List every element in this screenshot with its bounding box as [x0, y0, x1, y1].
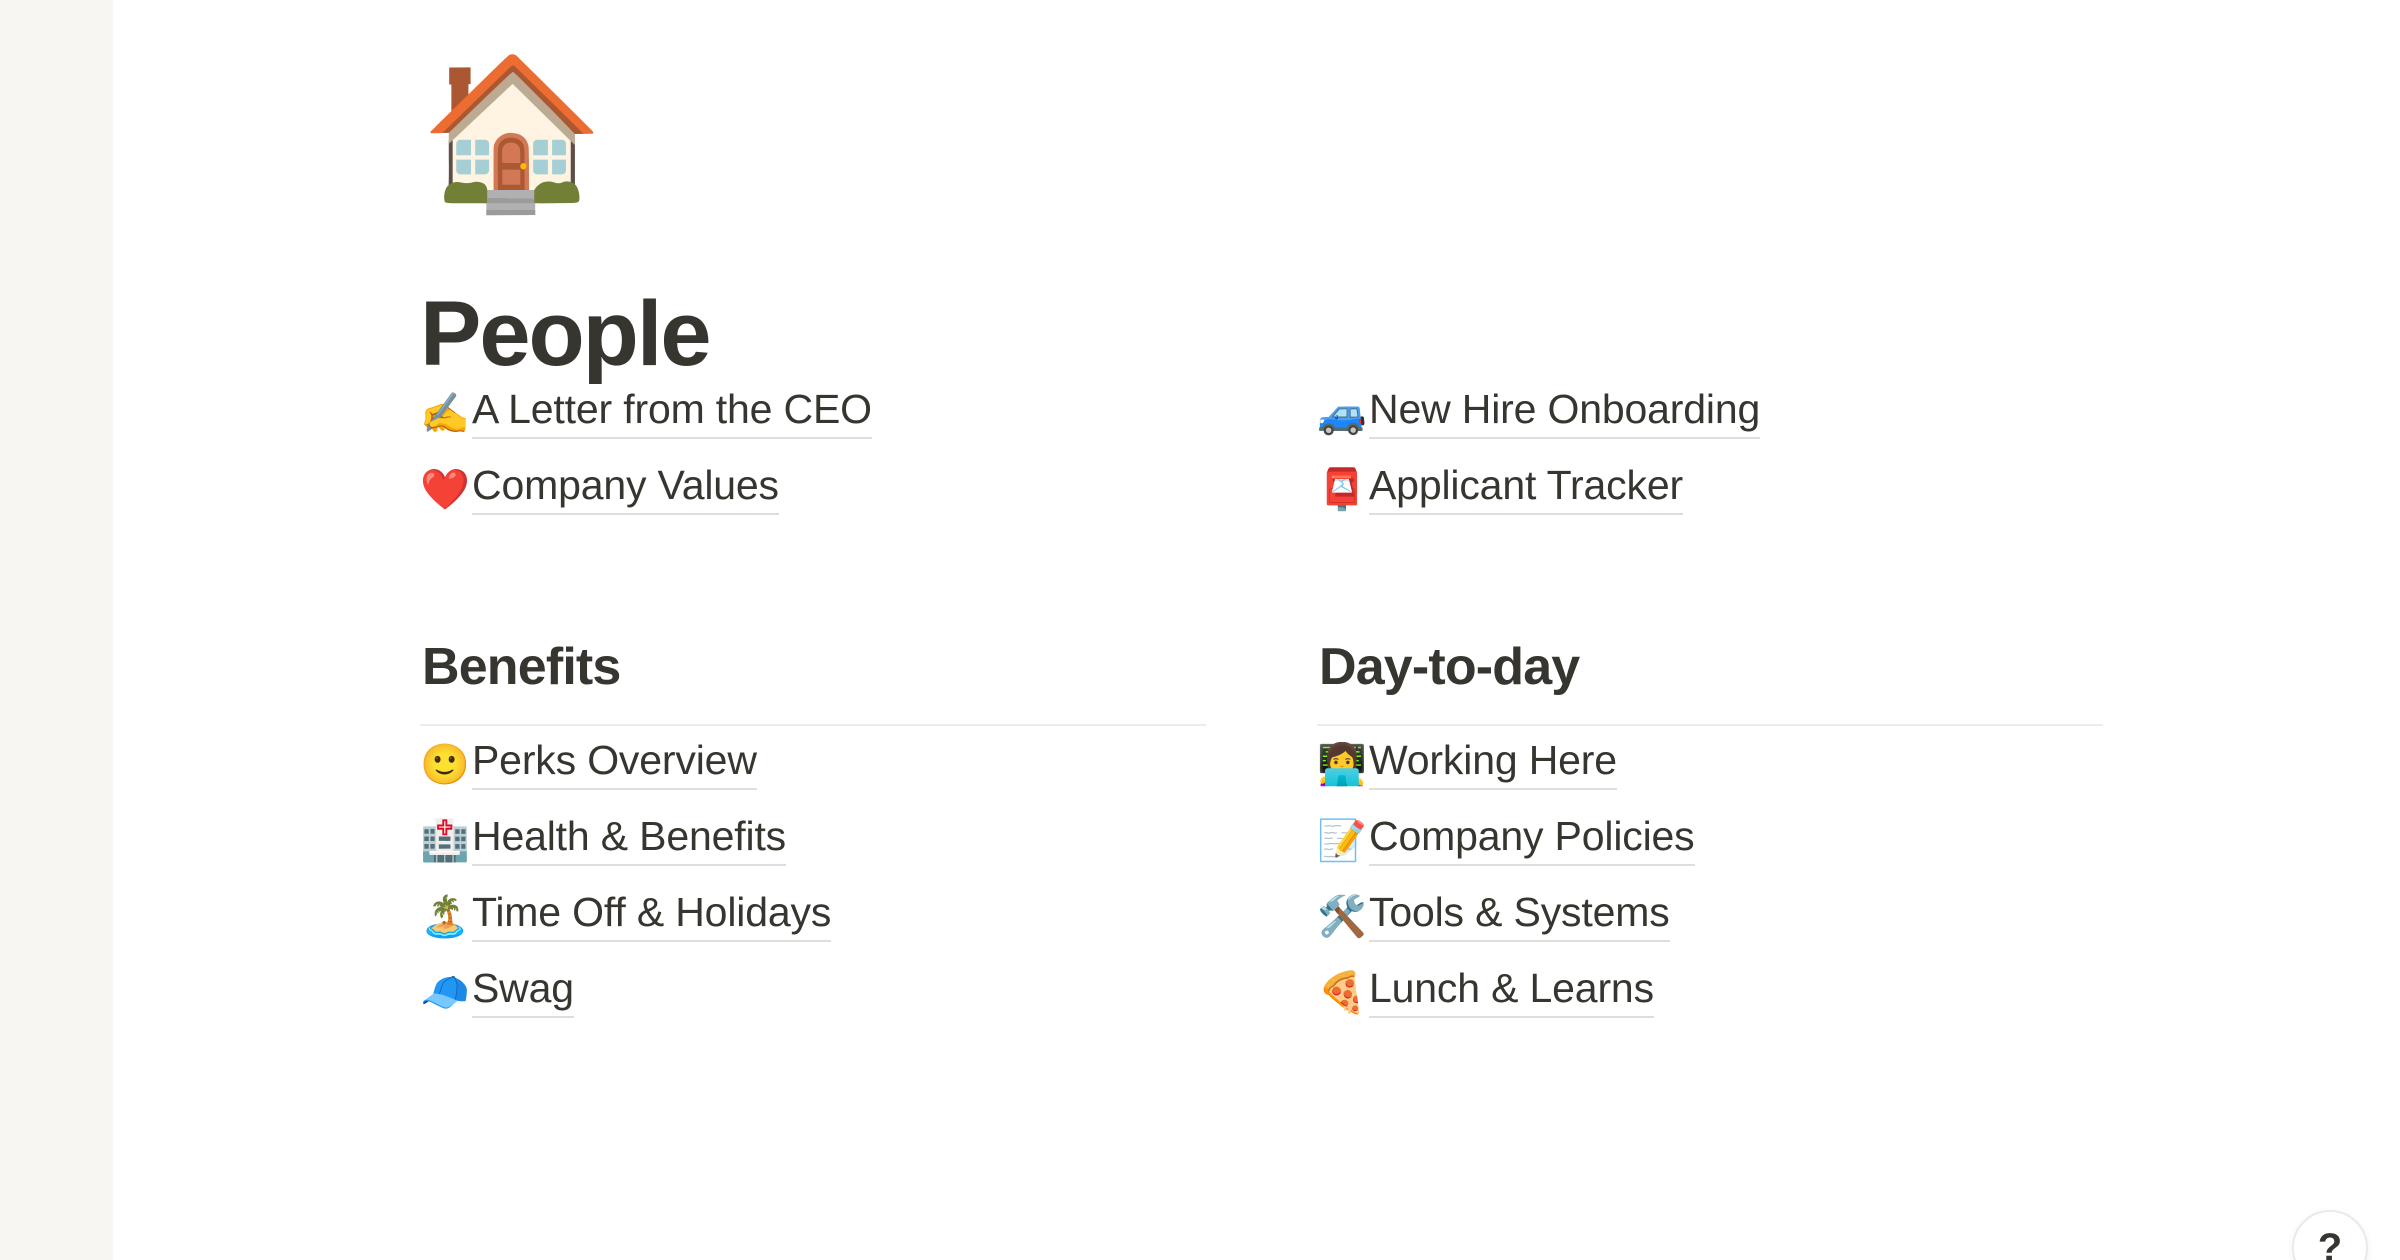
link-label[interactable]: Company Values — [472, 465, 779, 515]
top-links-list-left: ✍️ A Letter from the CEO ❤️ Company Valu… — [420, 389, 1206, 541]
link-row-company-values[interactable]: ❤️ Company Values — [420, 465, 1206, 541]
memo-emoji: 📝 — [1317, 821, 1369, 861]
link-label[interactable]: Health & Benefits — [472, 816, 786, 866]
section-divider — [420, 724, 1206, 726]
link-row-new-hire-onboarding[interactable]: 🚙 New Hire Onboarding — [1317, 389, 2103, 465]
section-heading-benefits[interactable]: Benefits — [420, 639, 1206, 696]
sidebar-rail[interactable] — [0, 0, 113, 1260]
section-benefits: Benefits 🙂 Perks Overview 🏥 Health & Ben… — [420, 639, 1206, 1044]
postbox-emoji: 📮 — [1317, 470, 1369, 510]
page-inner: 🏠 People ✍️ A Letter from the CEO ❤️ Com… — [113, 58, 2400, 1044]
page-title[interactable]: People — [420, 286, 2210, 383]
link-row-lunch-and-learns[interactable]: 🍕 Lunch & Learns — [1317, 968, 2103, 1044]
woman-technologist-emoji: 👩‍💻 — [1317, 745, 1369, 785]
section-day-to-day: Day-to-day 👩‍💻 Working Here 📝 Company Po… — [1317, 639, 2103, 1044]
section-divider — [1317, 724, 2103, 726]
link-row-tools-and-systems[interactable]: 🛠️ Tools & Systems — [1317, 892, 2103, 968]
top-links-columns: ✍️ A Letter from the CEO ❤️ Company Valu… — [420, 389, 2210, 541]
link-label[interactable]: Tools & Systems — [1369, 892, 1670, 942]
app-root: 🏠 People ✍️ A Letter from the CEO ❤️ Com… — [0, 0, 2400, 1260]
pizza-emoji: 🍕 — [1317, 973, 1369, 1013]
section-links-day-to-day: 👩‍💻 Working Here 📝 Company Policies 🛠️ T… — [1317, 740, 2103, 1044]
desert-island-emoji: 🏝️ — [420, 897, 472, 937]
link-label[interactable]: Lunch & Learns — [1369, 968, 1654, 1018]
link-row-working-here[interactable]: 👩‍💻 Working Here — [1317, 740, 2103, 816]
red-heart-emoji: ❤️ — [420, 470, 472, 510]
page-content-area: 🏠 People ✍️ A Letter from the CEO ❤️ Com… — [113, 0, 2400, 1260]
slightly-smiling-face-emoji: 🙂 — [420, 745, 472, 785]
writing-hand-emoji: ✍️ — [420, 394, 472, 434]
link-label[interactable]: Perks Overview — [472, 740, 757, 790]
link-label[interactable]: Applicant Tracker — [1369, 465, 1683, 515]
hammer-and-wrench-emoji: 🛠️ — [1317, 897, 1369, 937]
hospital-emoji: 🏥 — [420, 821, 472, 861]
link-label[interactable]: New Hire Onboarding — [1369, 389, 1760, 439]
link-label[interactable]: Working Here — [1369, 740, 1617, 790]
link-row-applicant-tracker[interactable]: 📮 Applicant Tracker — [1317, 465, 2103, 541]
help-button[interactable]: ? — [2292, 1210, 2368, 1260]
recreational-vehicle-emoji: 🚙 — [1317, 394, 1369, 434]
top-links-column-right: 🚙 New Hire Onboarding 📮 Applicant Tracke… — [1317, 389, 2103, 541]
link-row-swag[interactable]: 🧢 Swag — [420, 968, 1206, 1044]
link-label[interactable]: Company Policies — [1369, 816, 1695, 866]
link-row-perks-overview[interactable]: 🙂 Perks Overview — [420, 740, 1206, 816]
page-icon[interactable]: 🏠 — [420, 58, 610, 268]
link-row-health-and-benefits[interactable]: 🏥 Health & Benefits — [420, 816, 1206, 892]
section-heading-day-to-day[interactable]: Day-to-day — [1317, 639, 2103, 696]
top-links-column-left: ✍️ A Letter from the CEO ❤️ Company Valu… — [420, 389, 1206, 541]
section-columns: Benefits 🙂 Perks Overview 🏥 Health & Ben… — [420, 585, 2210, 1044]
billed-cap-emoji: 🧢 — [420, 973, 472, 1013]
link-row-company-policies[interactable]: 📝 Company Policies — [1317, 816, 2103, 892]
link-row-a-letter-from-the-ceo[interactable]: ✍️ A Letter from the CEO — [420, 389, 1206, 465]
link-row-time-off-and-holidays[interactable]: 🏝️ Time Off & Holidays — [420, 892, 1206, 968]
link-label[interactable]: A Letter from the CEO — [472, 389, 872, 439]
link-label[interactable]: Swag — [472, 968, 574, 1018]
top-links-list-right: 🚙 New Hire Onboarding 📮 Applicant Tracke… — [1317, 389, 2103, 541]
section-links-benefits: 🙂 Perks Overview 🏥 Health & Benefits 🏝️ … — [420, 740, 1206, 1044]
link-label[interactable]: Time Off & Holidays — [472, 892, 831, 942]
